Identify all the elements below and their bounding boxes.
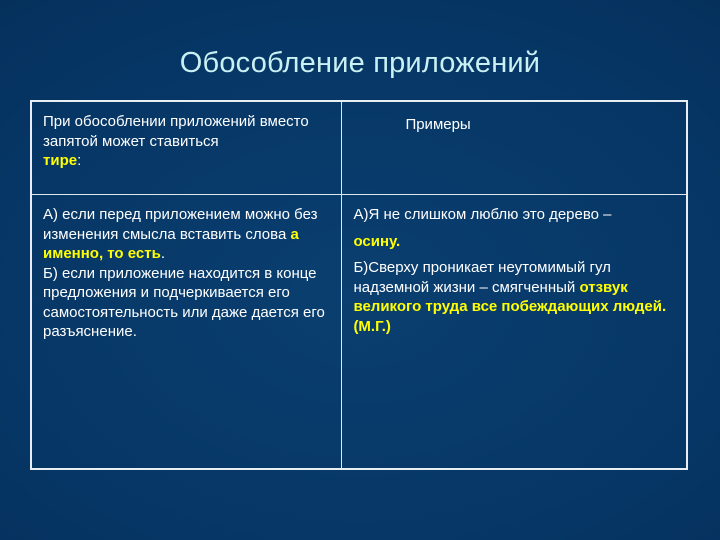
rule-b-text: Б) если приложение находится в конце пре… (43, 265, 325, 341)
rule-a-suffix: . (161, 245, 165, 262)
rule-keyword-colon: : (77, 152, 81, 169)
rule-a-paragraph: А) если перед приложением можно без изме… (43, 205, 330, 264)
example-a-highlight-paragraph: осину. (353, 232, 675, 252)
rule-a-prefix: А) если перед приложением можно без изме… (43, 206, 317, 243)
example-b-prefix: Б)Сверху проникает неутомимый гул надзем… (353, 259, 610, 296)
examples-heading-label: Примеры (353, 112, 675, 135)
rule-intro-text: При обособлении приложений вместо запято… (43, 112, 330, 151)
page-title: Обособление приложений (0, 46, 720, 80)
rule-keyword-line: тире: (43, 151, 330, 171)
rule-b-paragraph: Б) если приложение находится в конце пре… (43, 264, 330, 342)
body-cell-examples: А)Я не слишком люблю это дерево – осину.… (342, 195, 687, 470)
body-cell-rules: А) если перед приложением можно без изме… (31, 195, 342, 470)
rule-keyword-label: тире (43, 152, 77, 169)
slide-canvas: Обособление приложений При обособлении п… (0, 0, 720, 540)
example-b-paragraph: Б)Сверху проникает неутомимый гул надзем… (353, 258, 675, 336)
rules-examples-table: При обособлении приложений вместо запято… (30, 100, 688, 470)
header-cell-examples: Примеры (342, 101, 687, 195)
example-a-paragraph: А)Я не слишком люблю это дерево – (353, 205, 675, 225)
table-body-row: А) если перед приложением можно без изме… (31, 195, 687, 470)
example-a-text: А)Я не слишком люблю это дерево – (353, 206, 611, 223)
example-a-highlight: осину. (353, 233, 400, 250)
table-header-row: При обособлении приложений вместо запято… (31, 101, 687, 195)
header-cell-rule: При обособлении приложений вместо запято… (31, 101, 342, 195)
rule-intro-label: При обособлении приложений вместо запято… (43, 113, 309, 150)
